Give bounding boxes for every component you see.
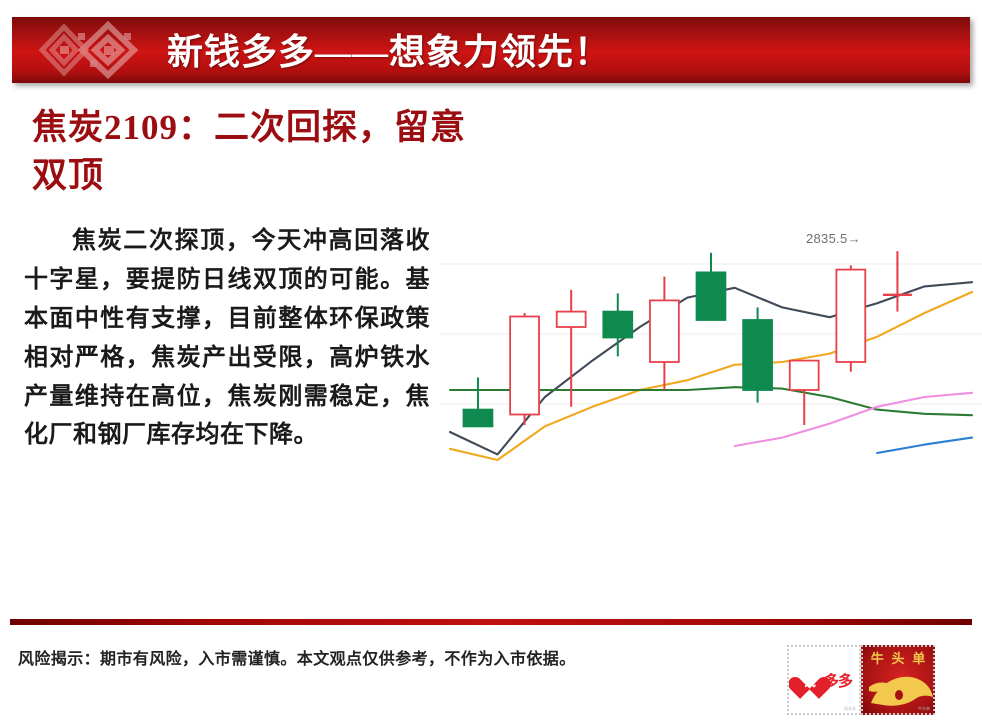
ntd-char-2: 头 (891, 651, 904, 666)
heart-icon: 钱 (796, 668, 823, 693)
footer-logos: 钱 多多 钱多多 牛 头 单 牛头单 (787, 645, 935, 715)
qian-duo-duo-stamp: 钱 多多 钱多多 (787, 645, 861, 715)
candle (743, 307, 772, 402)
candle (464, 377, 493, 426)
candle (836, 265, 865, 371)
candle (603, 293, 632, 356)
stamp-code: 牛头单 (918, 706, 930, 712)
candle (790, 361, 819, 425)
candle (510, 313, 539, 425)
candle (650, 277, 679, 390)
chinese-knot-diamond-icon (34, 19, 154, 81)
stamp-code: 钱多多 (844, 706, 856, 712)
ntd-char-3: 单 (912, 651, 925, 666)
price-tag-label: 2835.5→ (806, 231, 861, 246)
ntd-char-1: 牛 (871, 651, 884, 666)
header-title: 新钱多多——想象力领先！ (167, 23, 611, 75)
header-banner: 新钱多多——想象力领先！ (12, 17, 970, 83)
niu-tou-dan-text: 牛 头 单 (863, 651, 933, 666)
candlestick-chart (440, 216, 982, 508)
niu-tou-dan-stamp: 牛 头 单 牛头单 (861, 645, 935, 715)
page-title: 焦炭2109：二次回探，留意双顶 (32, 104, 472, 201)
chart-svg (440, 216, 982, 508)
footer-divider (10, 619, 972, 625)
candle (697, 253, 726, 320)
footer-disclaimer: 风险揭示：期市有风险，入市需谨慎。本文观点仅供参考，不作为入市依据。 (18, 645, 576, 669)
qian-char: 钱 (796, 671, 823, 690)
body-paragraph: 焦炭二次探顶，今天冲高回落收十字星，要提防日线双顶的可能。基本面中性有支撑，目前… (24, 222, 430, 455)
